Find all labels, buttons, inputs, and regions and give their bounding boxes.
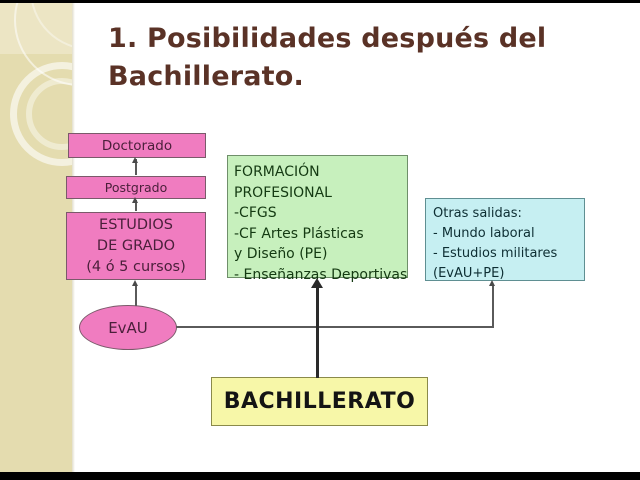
node-doctorado-label: Doctorado [102, 138, 172, 154]
node-postgrado[interactable]: Postgrado [66, 176, 206, 199]
node-otras-line-3: - Estudios militares [433, 244, 557, 264]
connector-evau-to-otras-salidas-vertical [492, 286, 494, 327]
node-formacion-profesional[interactable]: FORMACIÓN PROFESIONAL -CFGS -CF Artes Pl… [227, 155, 408, 278]
node-estudios-line-2: DE GRADO [97, 236, 175, 257]
node-postgrado-label: Postgrado [105, 180, 167, 195]
connector-postgrado-to-doctorado-arrowhead-icon [132, 157, 138, 163]
connector-evau-to-estudios-stem [135, 284, 137, 306]
node-otras-line-1: Otras salidas: [433, 204, 522, 224]
decorative-side-panel [0, 0, 72, 472]
letterbox-bar-bottom [0, 472, 640, 480]
node-fp-line-4: -CF Artes Plásticas [234, 224, 364, 245]
node-fp-line-1: FORMACIÓN [234, 162, 320, 183]
connector-evau-to-estudios-arrowhead-icon [132, 280, 138, 286]
connector-estudios-to-postgrado-arrowhead-icon [132, 197, 138, 203]
node-doctorado[interactable]: Doctorado [68, 133, 206, 158]
node-fp-line-2: PROFESIONAL [234, 183, 332, 204]
page-title-line-2: Bachillerato. [108, 58, 608, 96]
node-estudios-line-3: (4 ó 5 cursos) [86, 257, 186, 278]
node-bachillerato-label: BACHILLERATO [224, 389, 416, 414]
slide-canvas: 1. Posibilidades después del Bachillerat… [0, 0, 640, 480]
node-bachillerato[interactable]: BACHILLERATO [211, 377, 428, 426]
letterbox-bar-top [0, 0, 640, 3]
node-evau[interactable]: EvAU [79, 305, 177, 350]
connector-bachillerato-to-fp-stem [316, 286, 319, 378]
page-title: 1. Posibilidades después del Bachillerat… [108, 20, 608, 96]
node-evau-label: EvAU [108, 319, 148, 337]
node-otras-line-2: - Mundo laboral [433, 224, 535, 244]
connector-bachillerato-to-fp-arrowhead-icon [311, 278, 323, 288]
node-fp-line-5: y Diseño (PE) [234, 244, 327, 265]
connector-evau-to-otras-salidas-arrowhead-icon [489, 280, 495, 286]
node-fp-line-3: -CFGS [234, 203, 277, 224]
node-estudios-line-1: ESTUDIOS [99, 215, 173, 236]
node-estudios-de-grado[interactable]: ESTUDIOS DE GRADO (4 ó 5 cursos) [66, 212, 206, 280]
page-title-line-1: 1. Posibilidades después del [108, 20, 608, 58]
node-otras-salidas[interactable]: Otras salidas: - Mundo laboral - Estudio… [425, 198, 585, 281]
connector-evau-to-otras-salidas-horizontal [176, 326, 494, 328]
